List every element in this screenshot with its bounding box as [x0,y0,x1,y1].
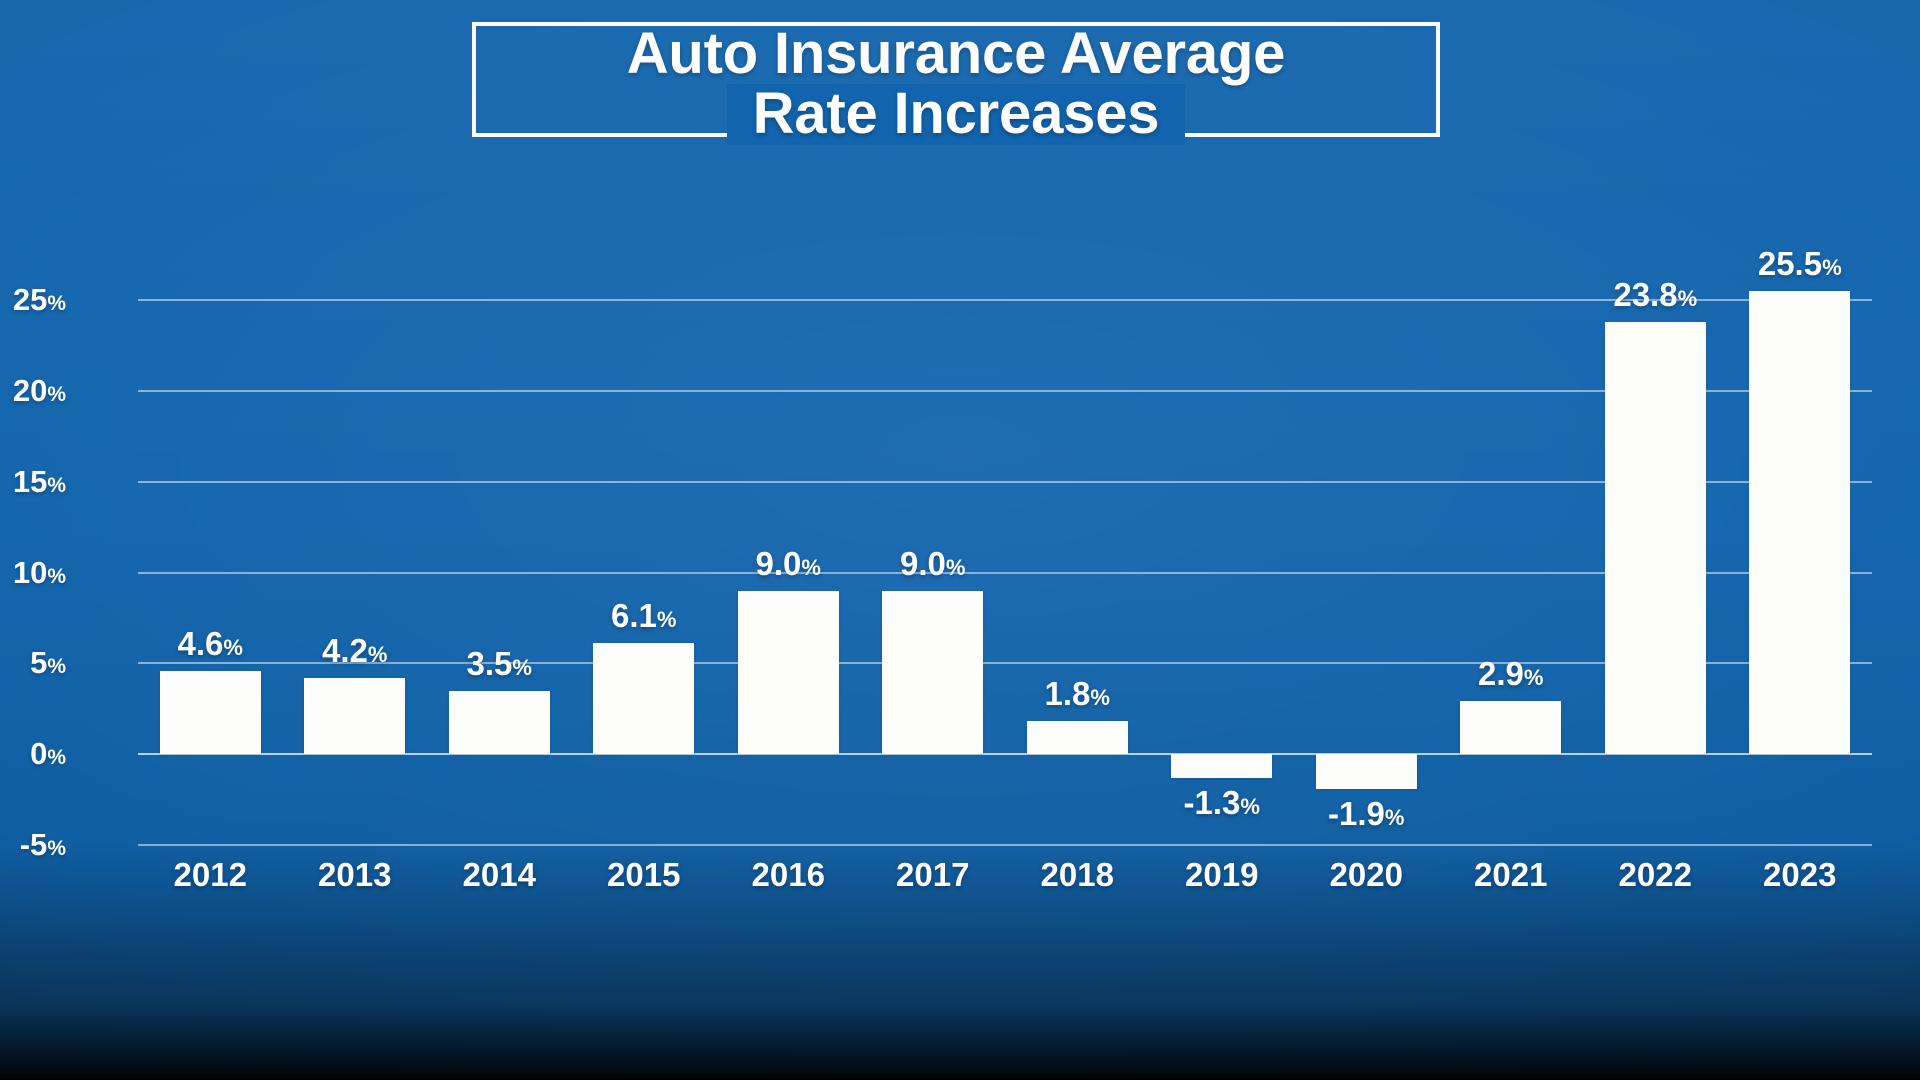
bar-series: 4.6%4.2%3.5%6.1%9.0%9.0%1.8%-1.3%-1.9%2.… [138,300,1872,845]
y-axis-label-5: 5% [0,645,66,681]
y-axis-label-15: 15% [0,464,66,500]
x-axis-label-2023: 2023 [1728,856,1873,894]
bar-value-label-2018: 1.8% [975,675,1180,713]
x-axis-label-2021: 2021 [1439,856,1584,894]
chart-plot-area: 25%20%15%10%5%0%-5% 4.6%4.2%3.5%6.1%9.0%… [138,300,1872,845]
title-line-1: Auto Insurance Average [627,21,1286,86]
bar-value-label-2020: -1.9% [1264,795,1469,833]
bar-2021[interactable] [1460,701,1561,754]
bar-2022[interactable] [1605,322,1706,754]
bar-2020[interactable] [1316,754,1417,789]
bar-2012[interactable] [160,671,261,755]
bar-2014[interactable] [449,691,550,755]
bar-value-label-2017: 9.0% [831,545,1036,583]
y-axis-label-10: 10% [0,555,66,591]
x-axis-label-2015: 2015 [572,856,717,894]
bar-2018[interactable] [1027,721,1128,754]
bar-2017[interactable] [882,591,983,755]
y-axis-label--5: -5% [0,827,66,863]
bar-2016[interactable] [738,591,839,755]
x-axis-label-2013: 2013 [283,856,428,894]
slide-canvas: Auto Insurance Average Rate Increases 25… [0,0,1920,1080]
x-axis-label-2022: 2022 [1583,856,1728,894]
title-line-2: Rate Increases [727,84,1186,144]
page-title: Auto Insurance Average Rate Increases [472,24,1440,145]
bar-value-label-2015: 6.1% [542,597,747,635]
bar-2015[interactable] [593,643,694,754]
bar-value-label-2021: 2.9% [1409,655,1614,693]
x-axis-label-2019: 2019 [1150,856,1295,894]
y-axis-label-25: 25% [0,282,66,318]
x-axis-label-2016: 2016 [716,856,861,894]
x-axis-label-2012: 2012 [138,856,283,894]
x-axis-label-2018: 2018 [1005,856,1150,894]
y-axis-label-20: 20% [0,373,66,409]
y-axis-label-0: 0% [0,736,66,772]
x-axis-label-2014: 2014 [427,856,572,894]
bar-value-label-2023: 25.5% [1698,245,1903,283]
x-axis-label-2017: 2017 [861,856,1006,894]
x-axis-label-2020: 2020 [1294,856,1439,894]
x-axis-ticks: 2012201320142015201620172018201920202021… [138,856,1872,906]
bar-2019[interactable] [1171,754,1272,778]
bar-2013[interactable] [304,678,405,754]
bar-value-label-2014: 3.5% [397,645,602,683]
bar-2023[interactable] [1749,291,1850,754]
